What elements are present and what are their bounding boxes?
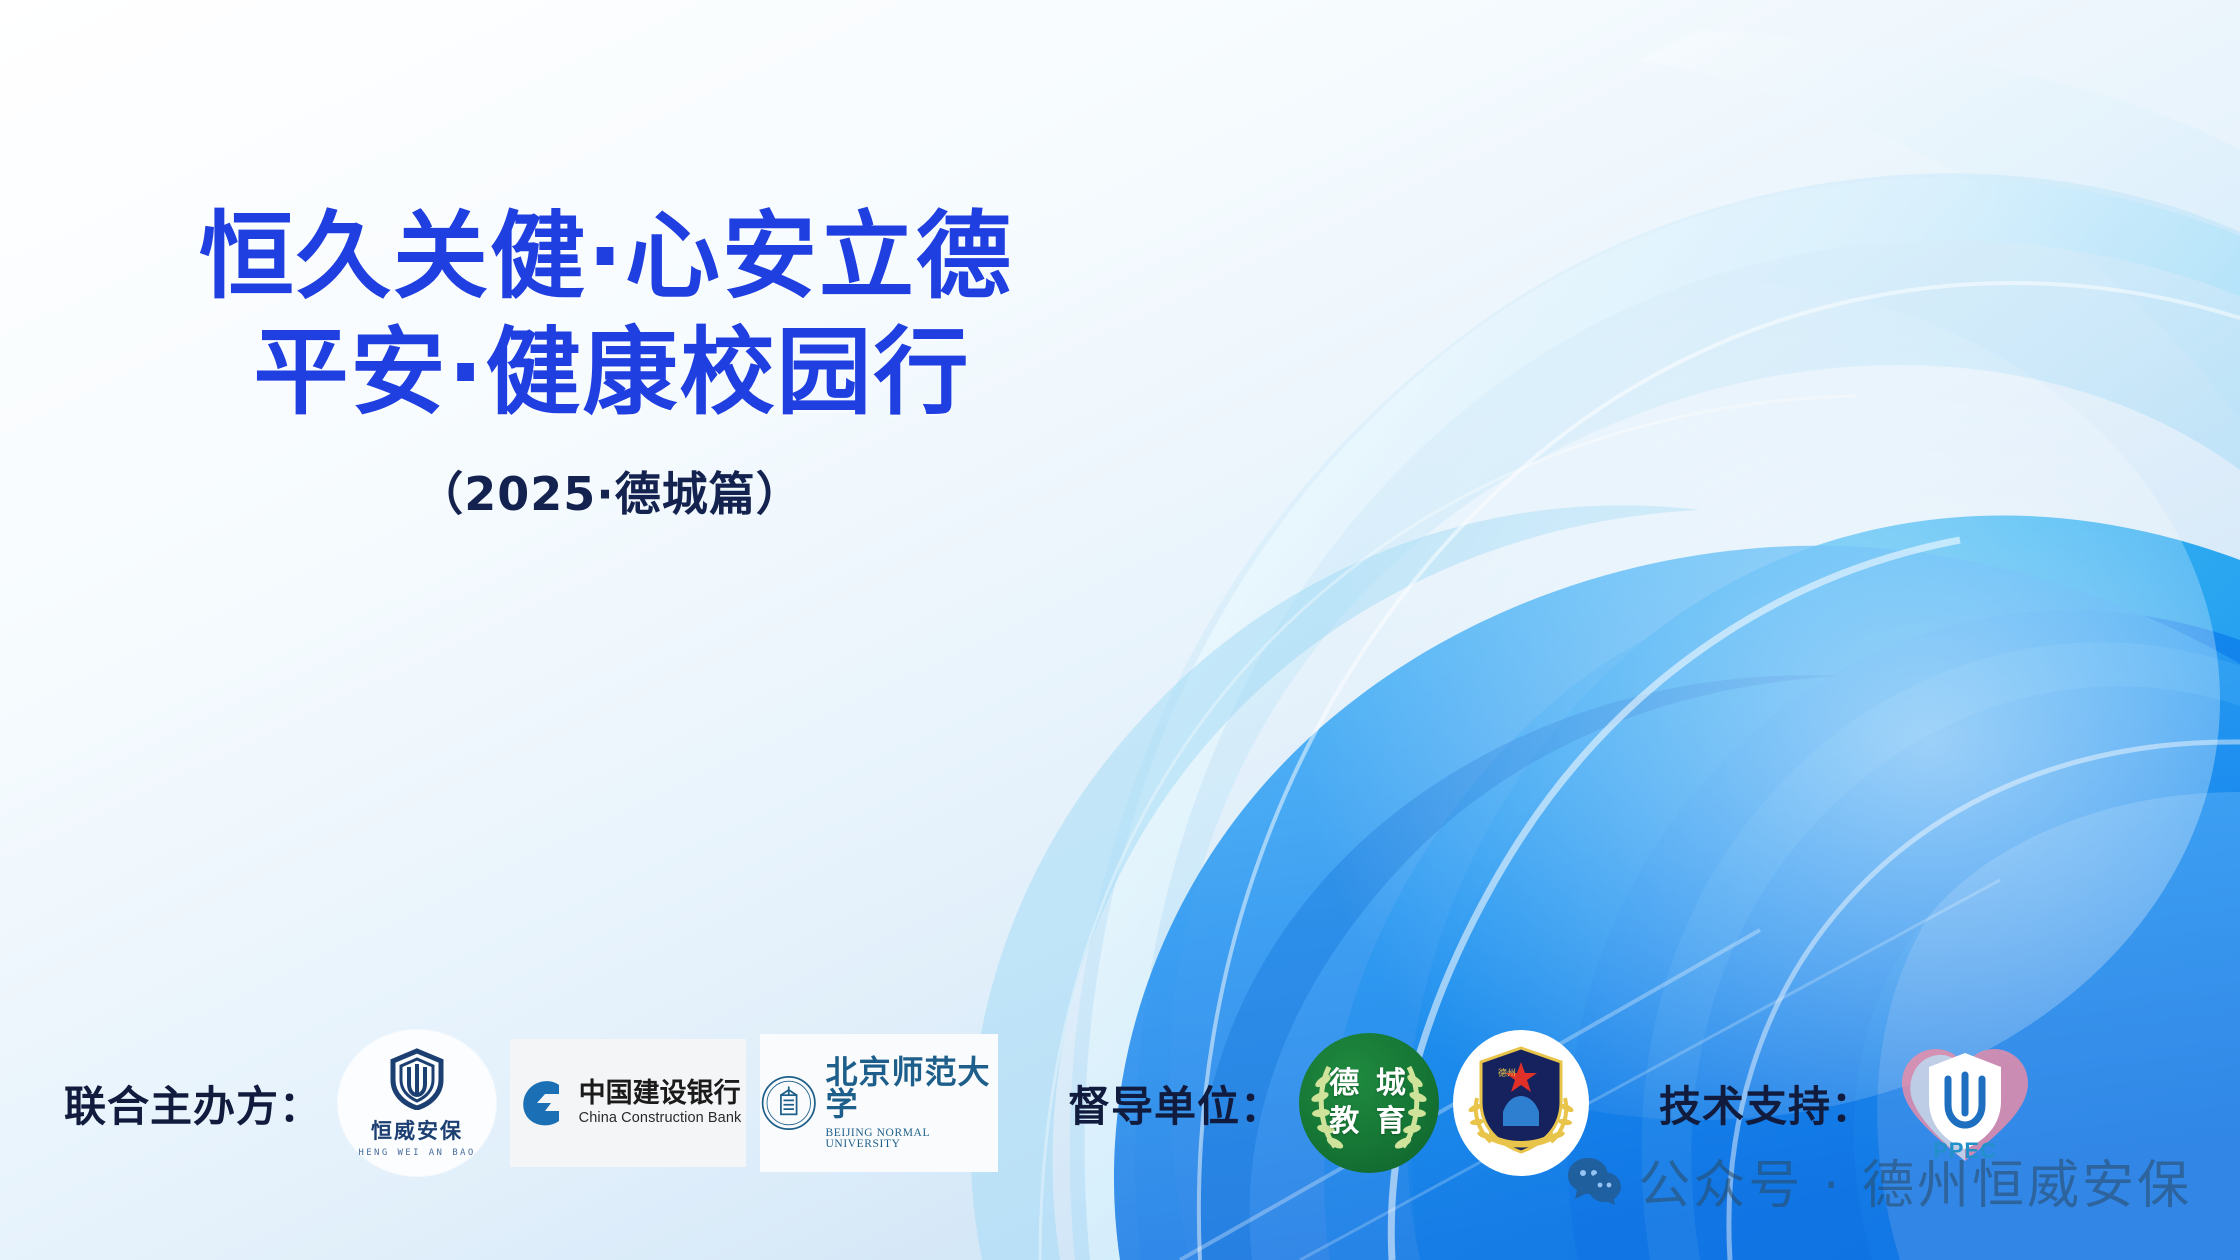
logo-beijing-normal-university[interactable]: 北京师范大学 BEIJING NORMAL UNIVERSITY — [760, 1030, 998, 1176]
subtitle: （2025·德城篇） — [110, 458, 1110, 524]
cohost-label: 联合主办方： — [64, 1073, 322, 1134]
hengwei-cn-name: 恒威安保 — [371, 1115, 463, 1145]
decheng-line2: 教 育 — [1329, 1103, 1408, 1141]
bnu-cn-name: 北京师范大学 — [826, 1056, 999, 1120]
watermark-text: 公众号 · 德州恒威安保 — [1638, 1143, 2192, 1218]
police-shield-icon: 德州 — [1465, 1040, 1577, 1166]
watermark: 公众号 · 德州恒威安保 — [1566, 1143, 2192, 1218]
ccb-cn-name: 中国建设银行 — [579, 1080, 742, 1108]
ccb-c-icon — [515, 1075, 571, 1131]
credit-group-supervisors: 督导单位： — [1068, 1030, 1603, 1176]
headline-block: 恒久关健·心安立德 平安·健康校园行 （2025·德城篇） — [110, 200, 1110, 524]
logo-decheng-education[interactable]: 德 城 教 育 — [1299, 1030, 1439, 1176]
bnu-seal-icon — [760, 1070, 818, 1136]
decheng-line1: 德 城 — [1329, 1065, 1408, 1103]
wechat-bubble-icon — [1566, 1156, 1622, 1206]
bnu-en-name: BEIJING NORMAL UNIVERSITY — [826, 1128, 999, 1151]
tech-support-label: 技术支持： — [1659, 1073, 1874, 1134]
ccb-en-name: China Construction Bank — [579, 1111, 742, 1126]
title-line-2: 平安·健康校园行 — [114, 316, 1110, 432]
supervisor-label: 督导单位： — [1068, 1073, 1283, 1134]
logo-hengwei-anbao[interactable]: 恒威安保 HENG WEI AN BAO — [338, 1030, 496, 1176]
police-badge-text: 德州 — [1498, 1067, 1516, 1079]
shield-w-icon — [388, 1048, 446, 1110]
decheng-badge-text: 德 城 教 育 — [1329, 1065, 1408, 1142]
logo-china-construction-bank[interactable]: 中国建设银行 China Construction Bank — [510, 1030, 746, 1176]
hengwei-en-name: HENG WEI AN BAO — [358, 1148, 475, 1158]
poster-root: 恒久关健·心安立德 平安·健康校园行 （2025·德城篇） 联合主办方： 恒威安… — [0, 0, 2240, 1260]
credit-group-cohosts: 联合主办方： 恒威安保 HENG WEI AN BAO — [64, 1030, 1012, 1176]
title-line-1: 恒久关健·心安立德 — [102, 200, 1110, 316]
